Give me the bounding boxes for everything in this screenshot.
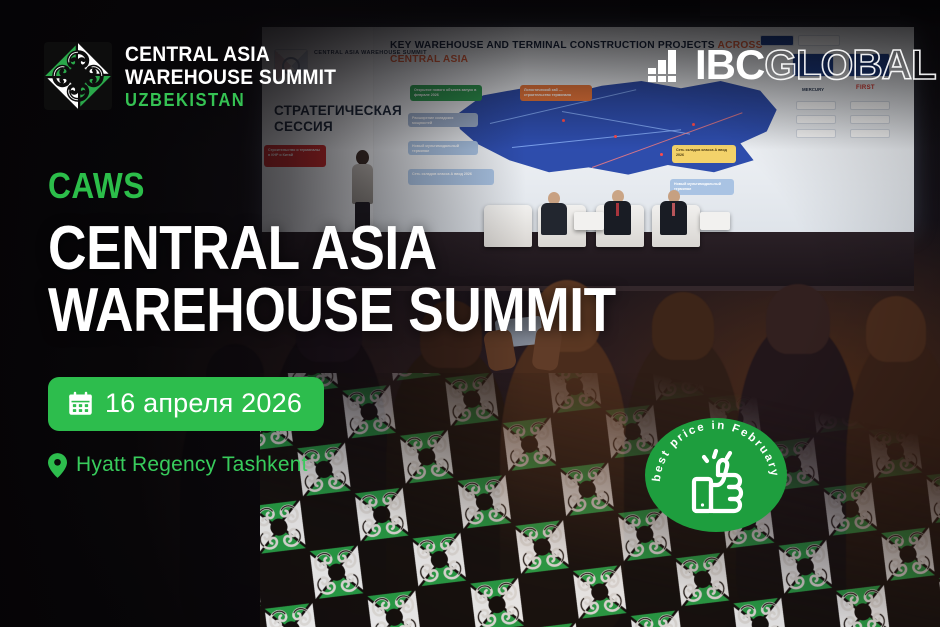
conference-banner: CENTRAL ASIA WAREHOUSE SUMMIT СТРАТЕГИЧЕ…: [0, 0, 940, 627]
banner-content: CAWS CENTRAL ASIA WAREHOUSE SUMMIT: [48, 168, 708, 478]
ibc-outline-text: GLOBAL: [764, 44, 935, 86]
summit-logo-line2: WAREHOUSE SUMMIT: [125, 67, 336, 88]
venue-row[interactable]: Hyatt Regency Tashkent: [48, 453, 708, 478]
date-text: 16 апреля 2026: [105, 390, 302, 417]
ibc-global-wordmark: IBCGLOBAL: [695, 44, 936, 86]
audience-head: [766, 284, 830, 354]
summit-logo-line3: UZBEKISTAN: [125, 91, 336, 109]
summit-logo-words: CENTRAL ASIA WAREHOUSE SUMMIT UZBEKISTAN: [125, 44, 355, 109]
summit-logo-line1: CENTRAL ASIA: [125, 44, 336, 65]
page-title: CENTRAL ASIA WAREHOUSE SUMMIT: [48, 220, 616, 341]
uzbek-ornament-tile-icon: [44, 42, 112, 110]
map-pin-icon: [48, 453, 67, 478]
map-city-dot: [660, 153, 663, 156]
audience-member: [846, 340, 940, 627]
ibc-global-watermark: IBCGLOBAL: [648, 44, 936, 86]
summit-logo[interactable]: CENTRAL ASIA WAREHOUSE SUMMIT UZBEKISTAN: [44, 42, 355, 110]
best-price-badge[interactable]: best price in February: [644, 417, 788, 533]
best-price-badge-svg: best price in February: [644, 417, 788, 533]
headline-line1: CENTRAL ASIA: [48, 220, 616, 278]
calendar-icon: [67, 390, 94, 417]
eyebrow-caws: CAWS: [48, 168, 629, 204]
venue-text: Hyatt Regency Tashkent: [76, 453, 308, 477]
date-badge[interactable]: 16 апреля 2026: [48, 377, 324, 431]
audience-head: [866, 296, 926, 362]
logo-ornament-svg: [44, 42, 112, 110]
ibc-solid-text: IBC: [695, 44, 764, 86]
headline-line2: WAREHOUSE SUMMIT: [48, 282, 616, 340]
ibc-bars-icon: [648, 48, 688, 82]
